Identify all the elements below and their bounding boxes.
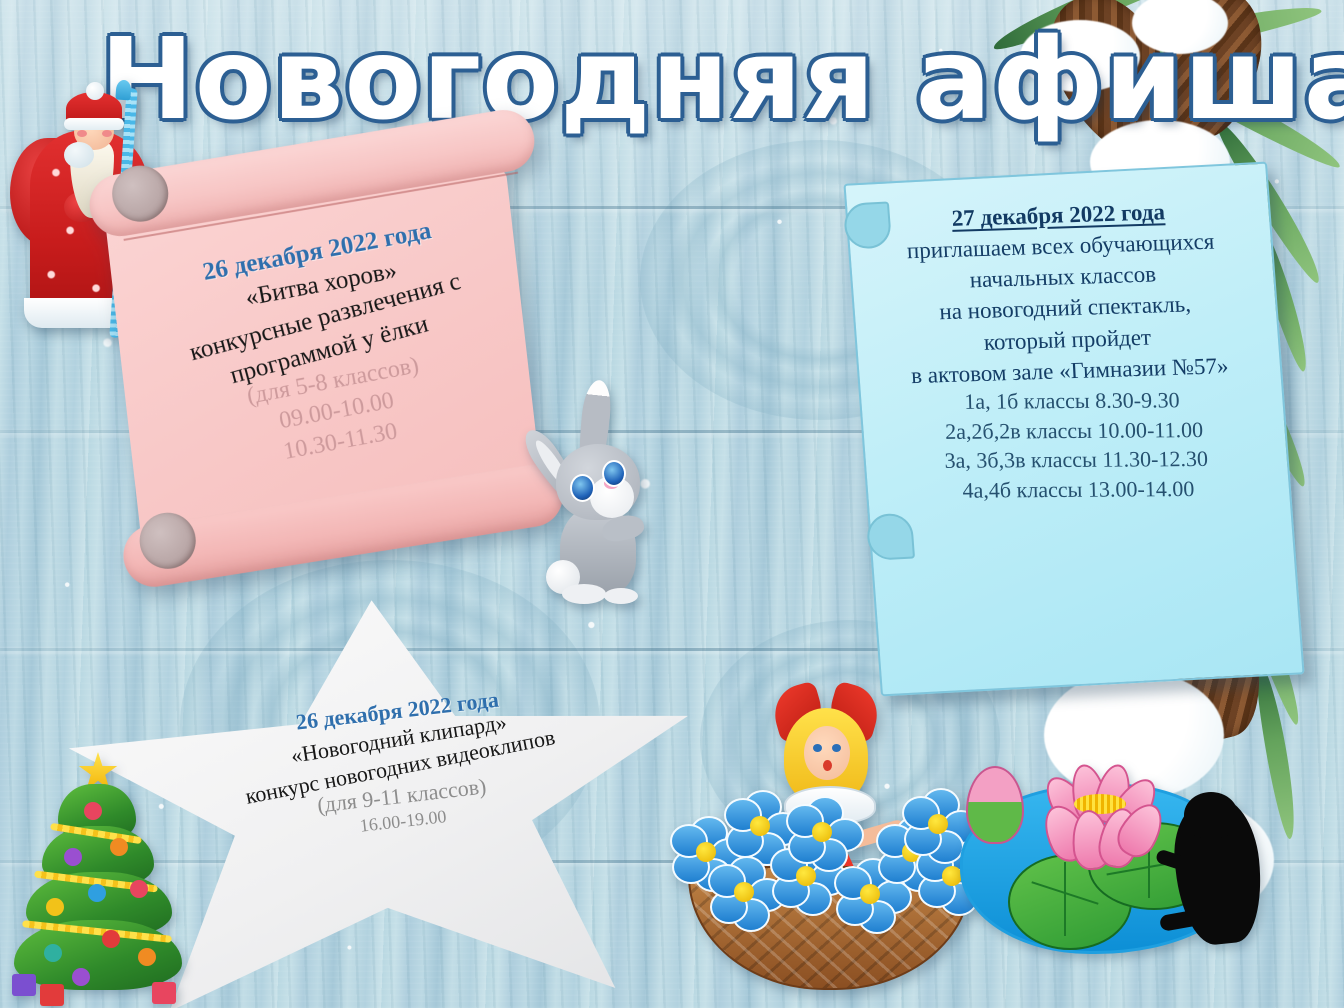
blue-announcement-card: 27 декабря 2022 года приглашаем всех обу… [843,162,1304,697]
page-title: Новогодняя афиша [100,24,1210,136]
lily-pad-vein [1064,862,1066,936]
tree-ornament [44,944,62,962]
lotus-bud [966,766,1024,844]
blue-card-schedule-2: 2а,2б,2в классы 10.00-11.00 [877,414,1270,446]
santa-cheek [102,130,112,137]
new-year-poster: Новогодняя афиша 26 декабря 2022 года «Б… [0,0,1344,1008]
blue-card-schedule-1: 1а, 1б классы 8.30-9.30 [875,385,1268,417]
tree-ornament [102,930,120,948]
blue-card-text-block: 27 декабря 2022 года приглашаем всех обу… [861,190,1275,514]
card-corner-curl [866,513,915,561]
tree-ornament [138,948,156,966]
tree-ornament [72,968,90,986]
bunny-eye [602,460,626,487]
santa-hat-trim [64,118,124,130]
frog-head-silhouette [1184,792,1238,838]
doll-eye [832,744,841,752]
santa-cheek [77,130,87,137]
tree-ornament [84,802,102,820]
tree-ornament [130,880,148,898]
santa-hat-pompom [86,82,104,100]
doll-mouth [823,760,832,771]
tree-ornament [46,898,64,916]
tree-ornament [64,848,82,866]
doll-face [804,726,850,780]
tree-gift [12,974,36,996]
doll-eye [813,744,822,752]
bunny-eye [570,474,595,502]
star-text-block: 26 декабря 2022 года «Новогодний клипард… [197,687,604,844]
blue-card-schedule-4: 4а,4б классы 13.00-14.00 [882,473,1275,505]
tree-gift [40,984,64,1006]
tree-ornament [88,884,106,902]
tree-ornament [110,838,128,856]
doll-in-flower-basket [666,690,996,990]
santa-staff-tip [115,80,131,101]
pink-scroll-card: 26 декабря 2022 года «Битва хоров» конку… [86,125,561,591]
lotus-pond-scene [960,762,1260,982]
christmas-tree-figure [6,752,188,1008]
santa-glove [64,142,94,168]
blue-card-schedule-3: 3а, 3б,3в классы 11.30-12.30 [880,444,1273,476]
scroll-text-block: 26 декабря 2022 года «Битва хоров» конку… [121,212,537,481]
bunny-figure [528,378,678,610]
tree-gift [152,982,176,1004]
